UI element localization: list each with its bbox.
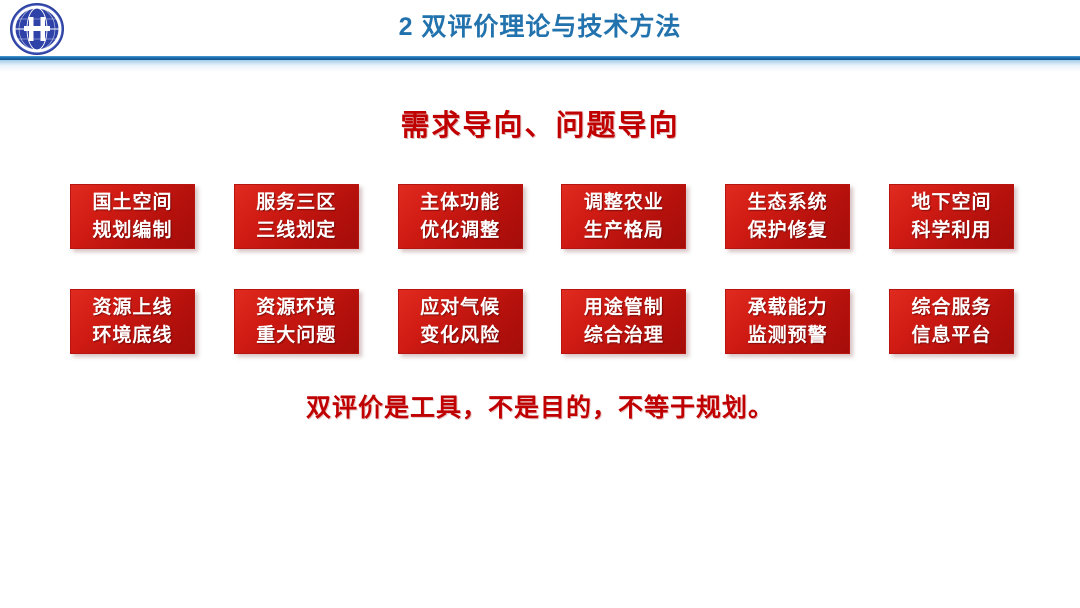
tag-box[interactable]: 主体功能 优化调整 xyxy=(398,184,523,249)
tag-row-2: 资源上线 环境底线 资源环境 重大问题 应对气候 变化风险 用途管制 综合治理 … xyxy=(70,289,1014,354)
tag-line-1: 国土空间 xyxy=(92,189,172,217)
tag-box[interactable]: 调整农业 生产格局 xyxy=(561,184,686,249)
page-title: 2 双评价理论与技术方法 xyxy=(0,7,1080,43)
tag-line-1: 生态系统 xyxy=(748,189,828,217)
slide: 2 双评价理论与技术方法 需求导向、问题导向 国土空间 规划编制 服务三区 三线… xyxy=(0,0,1080,608)
tag-line-2: 监测预警 xyxy=(748,322,828,350)
tag-box[interactable]: 用途管制 综合治理 xyxy=(561,289,686,354)
slide-footnote: 双评价是工具，不是目的，不等于规划。 xyxy=(0,388,1080,424)
tag-line-1: 承载能力 xyxy=(748,294,828,322)
tag-line-2: 环境底线 xyxy=(92,322,172,350)
tag-line-2: 变化风险 xyxy=(420,322,500,350)
tag-box[interactable]: 应对气候 变化风险 xyxy=(398,289,523,354)
tag-line-1: 主体功能 xyxy=(420,189,500,217)
tag-box[interactable]: 地下空间 科学利用 xyxy=(889,184,1014,249)
tag-row-1: 国土空间 规划编制 服务三区 三线划定 主体功能 优化调整 调整农业 生产格局 … xyxy=(70,184,1014,249)
tag-line-2: 优化调整 xyxy=(420,217,500,245)
tag-line-2: 三线划定 xyxy=(256,217,336,245)
tag-box[interactable]: 资源上线 环境底线 xyxy=(70,289,195,354)
tag-box[interactable]: 国土空间 规划编制 xyxy=(70,184,195,249)
section-title: 需求导向、问题导向 xyxy=(0,102,1080,144)
tag-line-2: 信息平台 xyxy=(911,322,991,350)
tag-box[interactable]: 服务三区 三线划定 xyxy=(234,184,359,249)
tag-line-1: 综合服务 xyxy=(911,294,991,322)
tag-box[interactable]: 综合服务 信息平台 xyxy=(889,289,1014,354)
tag-grid: 国土空间 规划编制 服务三区 三线划定 主体功能 优化调整 调整农业 生产格局 … xyxy=(70,184,1014,354)
tag-line-2: 综合治理 xyxy=(584,322,664,350)
tag-line-2: 规划编制 xyxy=(92,217,172,245)
tag-line-1: 服务三区 xyxy=(256,189,336,217)
tag-line-1: 资源环境 xyxy=(256,294,336,322)
header-divider-glow xyxy=(0,60,1080,72)
tag-line-2: 重大问题 xyxy=(256,322,336,350)
tag-line-2: 生产格局 xyxy=(584,217,664,245)
tag-line-2: 保护修复 xyxy=(748,217,828,245)
tag-box[interactable]: 资源环境 重大问题 xyxy=(234,289,359,354)
tag-box[interactable]: 承载能力 监测预警 xyxy=(725,289,850,354)
tag-line-1: 用途管制 xyxy=(584,294,664,322)
tag-line-1: 调整农业 xyxy=(584,189,664,217)
tag-line-1: 应对气候 xyxy=(420,294,500,322)
tag-line-2: 科学利用 xyxy=(911,217,991,245)
slide-header: 2 双评价理论与技术方法 xyxy=(0,0,1080,56)
tag-line-1: 地下空间 xyxy=(911,189,991,217)
tag-box[interactable]: 生态系统 保护修复 xyxy=(725,184,850,249)
tag-line-1: 资源上线 xyxy=(92,294,172,322)
